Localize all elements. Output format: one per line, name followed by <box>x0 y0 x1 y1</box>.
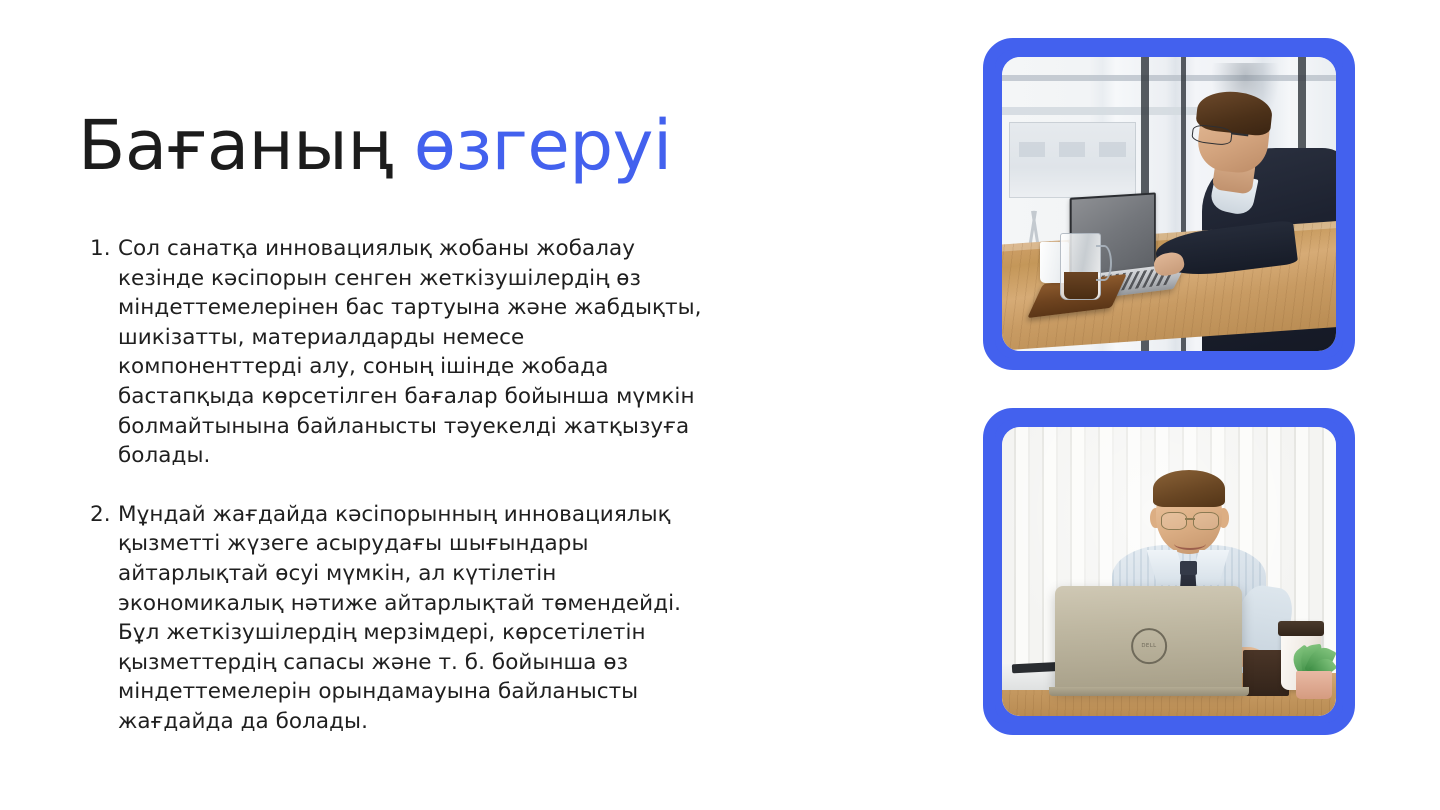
list-item-text: Мұндай жағдайда кәсіпорынның инновациялы… <box>118 500 710 737</box>
outside-window <box>1019 142 1046 157</box>
slide: Бағаның өзгеруі 1. Сол санатқа инновация… <box>0 0 1440 810</box>
coffee-carafe <box>1060 233 1100 300</box>
necktie-knot <box>1180 561 1197 574</box>
photo-man-at-window-with-laptop <box>1002 57 1336 351</box>
photo-frame-top <box>983 38 1355 370</box>
content-column: Бағаның өзгеруі 1. Сол санатқа инновация… <box>78 104 738 737</box>
coffee-cup-lid <box>1278 621 1324 636</box>
list-item: 2. Мұндай жағдайда кәсіпорынның инноваци… <box>78 500 738 737</box>
laptop-base <box>1049 687 1249 696</box>
potted-plant <box>1289 635 1336 699</box>
outside-window <box>1099 142 1126 157</box>
laptop-lid: DELL <box>1055 586 1242 690</box>
list-item: 1. Сол санатқа инновациялық жобаны жобал… <box>78 234 738 471</box>
page-title-leading: Бағаның <box>78 106 392 186</box>
eyeglass-lens <box>1161 512 1187 530</box>
eyeglasses-icon <box>1161 512 1219 528</box>
outside-window <box>1059 142 1086 157</box>
carafe-handle <box>1096 245 1111 281</box>
outside-building <box>1009 122 1136 198</box>
dell-logo: DELL <box>1131 628 1167 664</box>
window-crossbar <box>1002 75 1336 81</box>
photo-frame-bottom: DELL <box>983 408 1355 735</box>
eyeglass-lens <box>1193 512 1219 530</box>
person-hair <box>1153 470 1225 508</box>
page-title-accent: өзгеруі <box>414 106 672 186</box>
eyeglass-bridge <box>1185 518 1196 520</box>
plant-pot <box>1296 671 1332 699</box>
list-item-marker: 2. <box>78 500 118 530</box>
page-title: Бағаның өзгеруі <box>78 104 738 188</box>
numbered-list: 1. Сол санатқа инновациялық жобаны жобал… <box>78 234 738 737</box>
photo-smiling-man-with-dell-laptop: DELL <box>1002 427 1336 716</box>
list-item-marker: 1. <box>78 234 118 264</box>
list-item-text: Сол санатқа инновациялық жобаны жобалау … <box>118 234 710 471</box>
window-crossbar <box>1002 107 1199 115</box>
